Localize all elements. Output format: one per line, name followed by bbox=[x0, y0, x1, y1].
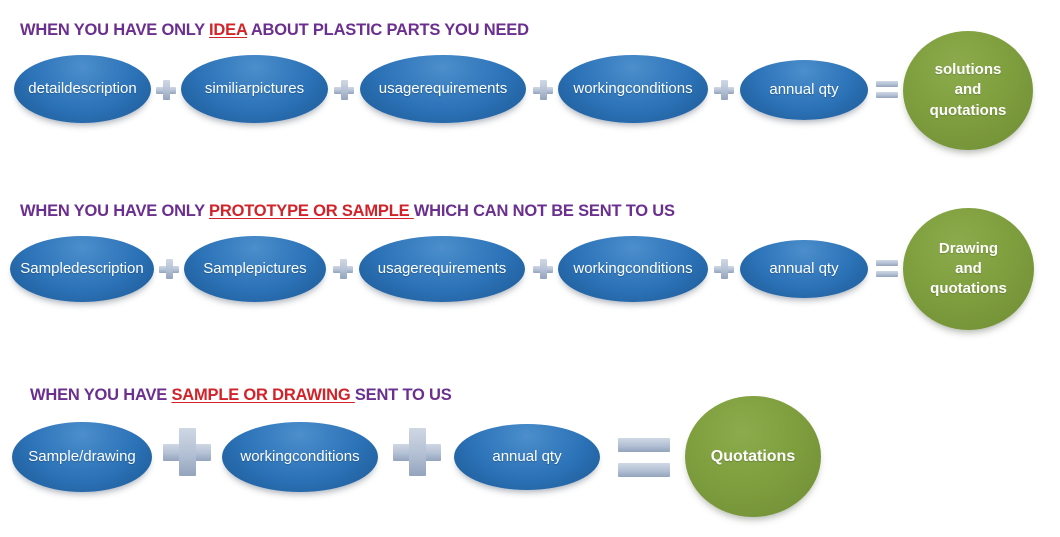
equals-icon bbox=[876, 81, 898, 99]
node-label-line2: conditions bbox=[625, 80, 693, 98]
node-label-line1: detail bbox=[28, 80, 64, 98]
heading-highlight: PROTOTYPE OR SAMPLE bbox=[209, 202, 414, 220]
node-working-conditions[interactable]: working conditions bbox=[558, 55, 708, 123]
node-label-line2: /drawing bbox=[79, 448, 136, 466]
node-label-line1: Sample bbox=[20, 260, 71, 278]
node-usage-requirements[interactable]: usage requirements bbox=[360, 55, 526, 123]
plus-icon-bar-vertical bbox=[341, 80, 348, 100]
result-label-line3: quotations bbox=[930, 102, 1007, 119]
plus-icon-bar-vertical bbox=[721, 80, 728, 100]
node-label-line2: conditions bbox=[625, 260, 693, 278]
heading-suffix: WHICH CAN NOT BE SENT TO US bbox=[414, 202, 675, 220]
result-drawing-and-quotations[interactable]: Drawing and quotations bbox=[903, 208, 1034, 330]
equals-icon-bar-bottom bbox=[876, 92, 898, 98]
node-label-line1: Sample bbox=[28, 448, 79, 466]
equals-icon bbox=[876, 260, 898, 278]
node-detail-description[interactable]: detail description bbox=[14, 55, 151, 123]
node-label-line1: usage bbox=[378, 260, 419, 278]
node-label-line1: working bbox=[573, 80, 625, 98]
equals-icon-bar-top bbox=[876, 260, 898, 266]
plus-icon-bar-vertical bbox=[340, 259, 347, 279]
row-prototype-heading: WHEN YOU HAVE ONLY PROTOTYPE OR SAMPLE W… bbox=[20, 203, 675, 220]
plus-icon-bar-vertical bbox=[409, 428, 426, 476]
plus-icon bbox=[156, 80, 176, 100]
node-label-line1: similiar bbox=[205, 80, 252, 98]
equals-icon bbox=[618, 438, 670, 478]
node-label-line1: annual qty bbox=[769, 260, 838, 278]
node-label-line1: usage bbox=[379, 80, 420, 98]
plus-icon-bar-vertical bbox=[721, 259, 728, 279]
result-label-line3: quotations bbox=[930, 280, 1007, 297]
plus-icon bbox=[333, 259, 353, 279]
node-sample-pictures[interactable]: Sample pictures bbox=[184, 236, 326, 302]
plus-icon bbox=[334, 80, 354, 100]
plus-icon-bar-vertical bbox=[179, 428, 196, 476]
result-label-line1: Drawing bbox=[939, 240, 998, 257]
node-label-line2: conditions bbox=[292, 448, 360, 466]
plus-icon bbox=[533, 259, 553, 279]
node-working-conditions[interactable]: working conditions bbox=[558, 236, 708, 302]
plus-icon-bar-vertical bbox=[166, 259, 173, 279]
node-annual-qty[interactable]: annual qty bbox=[740, 240, 868, 298]
node-label-line1: working bbox=[240, 448, 292, 466]
plus-icon-bar-vertical bbox=[540, 259, 547, 279]
node-label-line1: Sample bbox=[203, 260, 254, 278]
node-similiar-pictures[interactable]: similiar pictures bbox=[181, 55, 328, 123]
heading-highlight: IDEA bbox=[209, 21, 247, 39]
result-label-line2: and bbox=[955, 81, 982, 98]
node-label-line2: requirements bbox=[419, 260, 507, 278]
plus-icon bbox=[714, 259, 734, 279]
result-solutions-and-quotations[interactable]: solutions and quotations bbox=[903, 31, 1033, 150]
plus-icon bbox=[393, 428, 441, 476]
heading-suffix: ABOUT PLASTIC PARTS YOU NEED bbox=[247, 21, 529, 39]
node-label-line1: working bbox=[573, 260, 625, 278]
node-working-conditions[interactable]: working conditions bbox=[222, 422, 378, 492]
node-label-line2: description bbox=[71, 260, 144, 278]
node-sample-description[interactable]: Sample description bbox=[10, 236, 154, 302]
result-quotations[interactable]: Quotations bbox=[685, 396, 821, 517]
node-label-line2: pictures bbox=[254, 260, 307, 278]
result-label-line1: Quotations bbox=[711, 448, 795, 465]
plus-icon-bar-vertical bbox=[163, 80, 170, 100]
heading-prefix: WHEN YOU HAVE ONLY bbox=[20, 21, 209, 39]
node-label-line1: annual qty bbox=[492, 448, 561, 466]
equals-icon-bar-top bbox=[618, 438, 670, 452]
node-label-line2: pictures bbox=[252, 80, 305, 98]
node-annual-qty[interactable]: annual qty bbox=[454, 424, 600, 490]
node-label-line2: requirements bbox=[420, 80, 508, 98]
plus-icon bbox=[714, 80, 734, 100]
heading-prefix: WHEN YOU HAVE ONLY bbox=[20, 202, 209, 220]
plus-icon bbox=[163, 428, 211, 476]
row-sample-drawing-heading: WHEN YOU HAVE SAMPLE OR DRAWING SENT TO … bbox=[30, 387, 452, 404]
equals-icon-bar-bottom bbox=[876, 271, 898, 277]
node-usage-requirements[interactable]: usage requirements bbox=[359, 236, 525, 302]
result-label-line2: and bbox=[955, 260, 982, 277]
node-label-line2: description bbox=[64, 80, 137, 98]
plus-icon bbox=[159, 259, 179, 279]
heading-highlight: SAMPLE OR DRAWING bbox=[171, 386, 354, 404]
row-idea-heading: WHEN YOU HAVE ONLY IDEA ABOUT PLASTIC PA… bbox=[20, 22, 529, 39]
plus-icon bbox=[533, 80, 553, 100]
equals-icon-bar-top bbox=[876, 81, 898, 87]
result-label-line1: solutions bbox=[935, 61, 1002, 78]
plus-icon-bar-vertical bbox=[540, 80, 547, 100]
heading-prefix: WHEN YOU HAVE bbox=[30, 386, 171, 404]
equals-icon-bar-bottom bbox=[618, 463, 670, 477]
heading-suffix: SENT TO US bbox=[355, 386, 452, 404]
node-annual-qty[interactable]: annual qty bbox=[740, 60, 868, 120]
node-sample-drawing[interactable]: Sample /drawing bbox=[12, 422, 152, 492]
node-label-line1: annual qty bbox=[769, 81, 838, 99]
